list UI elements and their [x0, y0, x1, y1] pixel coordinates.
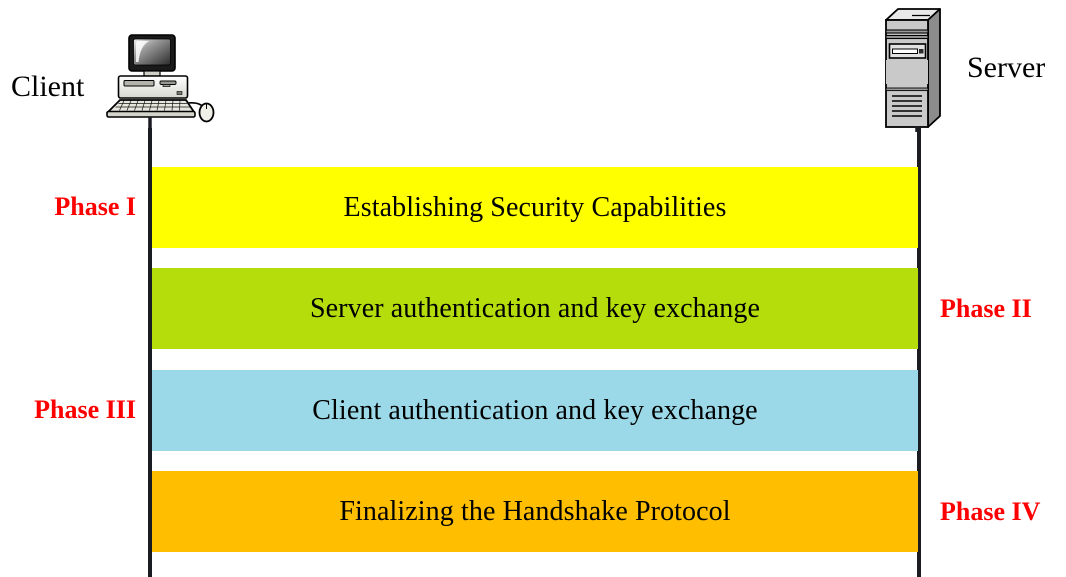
- server-tower-icon: [876, 4, 966, 132]
- diagram-canvas: Client: [0, 0, 1066, 577]
- desktop-computer-icon: [100, 34, 222, 130]
- client-endpoint-label: Client: [11, 72, 84, 102]
- server-endpoint-label: Server: [967, 53, 1045, 83]
- phase-band-label: Server authentication and key exchange: [310, 295, 760, 323]
- phase-label-2: Phase II: [940, 296, 1032, 322]
- phase-band-label: Client authentication and key exchange: [312, 397, 757, 425]
- phase-band-server-authentication-and-key-exchange[interactable]: Server authentication and key exchange: [152, 268, 918, 349]
- phase-band-establishing-security-capabilities[interactable]: Establishing Security Capabilities: [152, 167, 918, 248]
- phase-band-label: Finalizing the Handshake Protocol: [339, 498, 730, 526]
- phase-band-finalizing-the-handshake-protocol[interactable]: Finalizing the Handshake Protocol: [152, 471, 918, 552]
- phase-label-1: Phase I: [54, 194, 136, 220]
- phase-label-3: Phase III: [34, 397, 136, 423]
- phase-band-client-authentication-and-key-exchange[interactable]: Client authentication and key exchange: [152, 370, 918, 451]
- phase-label-4: Phase IV: [940, 499, 1040, 525]
- phase-band-label: Establishing Security Capabilities: [344, 194, 727, 222]
